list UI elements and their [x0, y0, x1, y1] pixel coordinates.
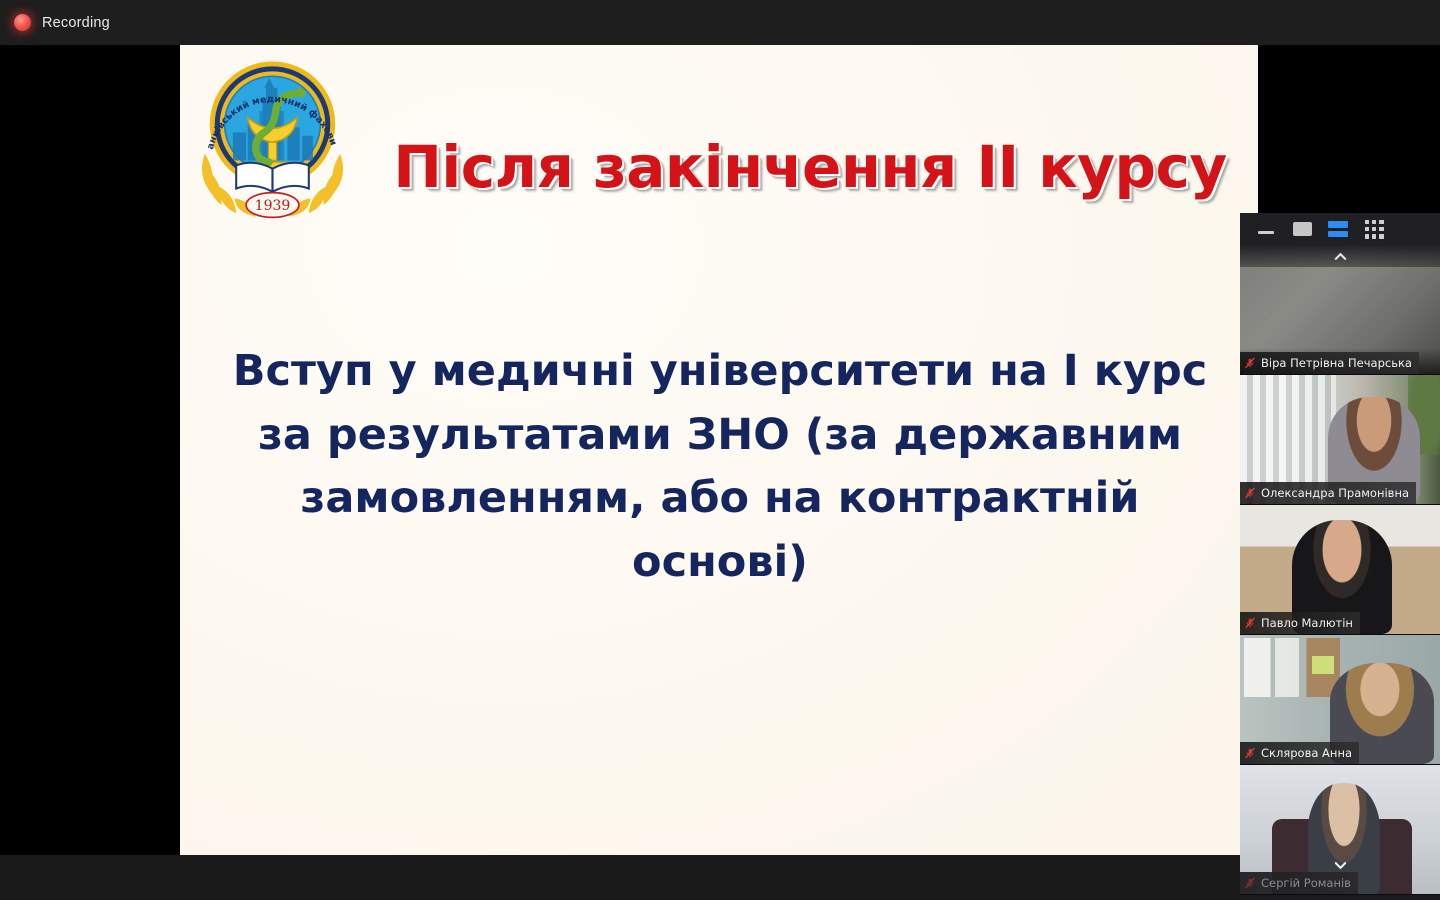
participant-name-bar: Склярова Анна — [1240, 742, 1359, 764]
participant-name-bar: Віра Петрівна Печарська — [1240, 352, 1419, 374]
record-dot-icon — [14, 14, 31, 31]
grid-view-button[interactable] — [1356, 213, 1392, 245]
chevron-up-icon — [1333, 249, 1348, 264]
chevron-down-icon — [1333, 858, 1348, 873]
participant-tile[interactable]: Павло Малютін — [1240, 505, 1440, 635]
slide-title: Після закінчення ІІ курсу — [365, 137, 1255, 198]
split-view-button[interactable] — [1320, 213, 1356, 245]
participant-name: Павло Малютін — [1261, 616, 1353, 630]
video-panel-toolbar — [1240, 213, 1440, 245]
college-emblem-icon: 1939 Івано-Франківський медичний фаховий… — [190, 53, 355, 225]
participant-name-bar: Павло Малютін — [1240, 612, 1360, 634]
microphone-muted-icon — [1244, 356, 1256, 370]
participant-tile[interactable]: Склярова Анна — [1240, 635, 1440, 765]
microphone-muted-icon — [1244, 486, 1256, 500]
recording-bar: Recording — [0, 0, 1440, 45]
maximize-button[interactable] — [1284, 213, 1320, 245]
maximize-icon — [1293, 222, 1312, 236]
shared-slide: 1939 Івано-Франківський медичний фаховий… — [180, 45, 1258, 855]
microphone-muted-icon — [1244, 616, 1256, 630]
scroll-up-button[interactable] — [1240, 245, 1440, 267]
video-participants-panel: Віра Петрівна Печарська Олександра Прамо… — [1240, 213, 1440, 900]
slide-body-text: Вступ у медичні університети на І курс з… — [220, 340, 1220, 595]
participant-name: Віра Петрівна Печарська — [1261, 356, 1412, 370]
grid-icon — [1365, 220, 1384, 239]
recording-label: Recording — [42, 15, 110, 31]
participant-name: Сергій Романів — [1261, 876, 1351, 890]
microphone-muted-icon — [1244, 876, 1256, 890]
participant-tile[interactable]: Олександра Прамонівна — [1240, 375, 1440, 505]
microphone-muted-icon — [1244, 746, 1256, 760]
participant-name: Олександра Прамонівна — [1261, 486, 1409, 500]
participant-name: Склярова Анна — [1261, 746, 1352, 760]
participant-tiles: Віра Петрівна Печарська Олександра Прамо… — [1240, 245, 1440, 900]
split-view-icon — [1328, 221, 1348, 237]
stage-letterbox-left — [0, 45, 180, 855]
participant-name-bar: Олександра Прамонівна — [1240, 482, 1416, 504]
presentation-stage: 1939 Івано-Франківський медичний фаховий… — [0, 45, 1440, 900]
minimize-button[interactable] — [1248, 213, 1284, 245]
minimize-icon — [1258, 231, 1274, 234]
scroll-down-button[interactable] — [1240, 852, 1440, 878]
svg-text:1939: 1939 — [255, 198, 291, 214]
